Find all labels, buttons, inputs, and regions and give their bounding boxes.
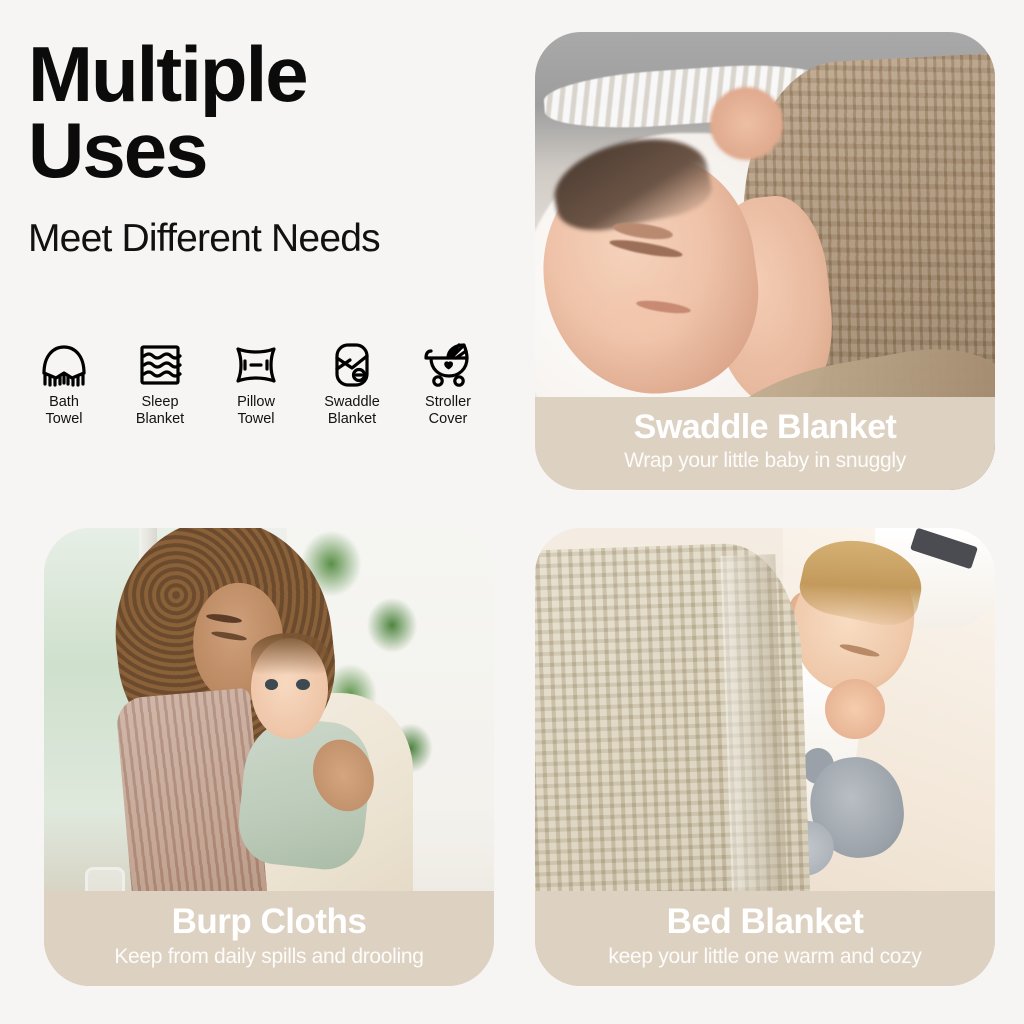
caption-subtitle: Wrap your little baby in snuggly	[547, 448, 983, 474]
use-label-bath-towel: Bath Towel	[45, 394, 82, 428]
headline-line-2: Uses	[28, 112, 518, 188]
caption-title: Burp Cloths	[56, 901, 482, 942]
toddler-hand-shape	[825, 679, 885, 739]
use-item-swaddle-blanket: Swaddle Blanket	[304, 340, 400, 428]
use-item-bath-towel: Bath Towel	[16, 340, 112, 428]
caption-title: Swaddle Blanket	[547, 407, 983, 447]
swaddle-blanket-icon	[332, 340, 372, 390]
use-label-sleep-blanket: Sleep Blanket	[136, 394, 184, 428]
infographic-canvas: Multiple Uses Meet Different Needs Bath …	[0, 0, 1024, 1024]
card-bed-blanket[interactable]: Bed Blanket keep your little one warm an…	[535, 528, 995, 986]
baby-hand-shape	[710, 87, 784, 160]
caption-burp-cloths: Burp Cloths Keep from daily spills and d…	[44, 891, 494, 986]
use-label-swaddle-blanket: Swaddle Blanket	[324, 394, 380, 428]
use-item-pillow-towel: Pillow Towel	[208, 340, 304, 428]
caption-subtitle: keep your little one warm and cozy	[547, 944, 983, 970]
card-burp-cloths[interactable]: Burp Cloths Keep from daily spills and d…	[44, 528, 494, 986]
pillow-towel-icon	[231, 340, 281, 390]
use-label-pillow-towel: Pillow Towel	[237, 394, 275, 428]
use-item-stroller-cover: Stroller Cover	[400, 340, 496, 428]
caption-title: Bed Blanket	[547, 901, 983, 942]
bath-towel-icon	[39, 340, 89, 390]
sleep-blanket-icon	[137, 340, 183, 390]
use-icon-row: Bath Towel Sleep Blanket	[16, 340, 496, 428]
caption-bed-blanket: Bed Blanket keep your little one warm an…	[535, 891, 995, 986]
baby-cheek-shape	[595, 279, 696, 357]
baby-hair-shape	[251, 633, 328, 674]
use-label-stroller-cover: Stroller Cover	[425, 394, 471, 428]
page-subtitle: Meet Different Needs	[28, 217, 518, 261]
caption-subtitle: Keep from daily spills and drooling	[56, 944, 482, 970]
card-swaddle-blanket[interactable]: Swaddle Blanket Wrap your little baby in…	[535, 32, 995, 490]
page-title: Multiple Uses	[28, 36, 518, 189]
use-item-sleep-blanket: Sleep Blanket	[112, 340, 208, 428]
headline-line-1: Multiple	[28, 36, 518, 112]
caption-swaddle-blanket: Swaddle Blanket Wrap your little baby in…	[535, 397, 995, 490]
stroller-cover-icon	[422, 340, 474, 390]
baby-left-eye-shape	[265, 679, 279, 690]
headline-block: Multiple Uses Meet Different Needs	[28, 36, 518, 261]
baby-right-eye-shape	[296, 679, 310, 690]
